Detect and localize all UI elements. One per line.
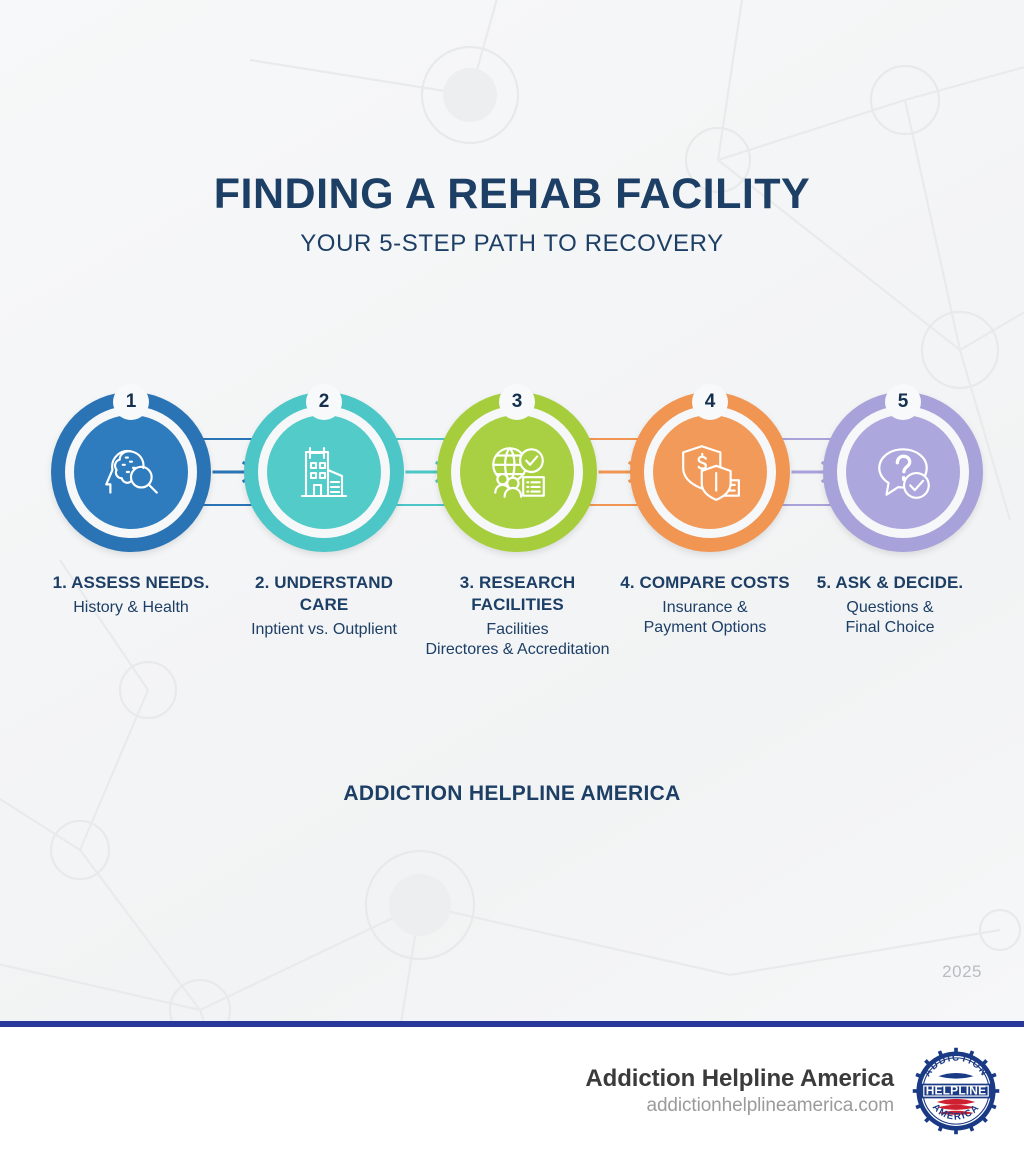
- caption-title: 5. ASK & DECIDE.: [800, 572, 980, 594]
- step-disc-4: [653, 415, 767, 529]
- step-number-badge-4: 4: [692, 384, 728, 420]
- globe-checklist-people-icon: [484, 439, 550, 505]
- step-disc-2: [267, 415, 381, 529]
- page-subtitle: YOUR 5-STEP PATH TO RECOVERY: [0, 230, 1024, 258]
- caption-sub-line2: Directores & Accreditation: [415, 640, 620, 660]
- caption-title-line1: 4. COMPARE COSTS: [615, 572, 795, 594]
- infographic-poster: FINDING A REHAB FACILITY YOUR 5-STEP PAT…: [0, 0, 1024, 1024]
- step-node-2[interactable]: 2: [244, 392, 404, 552]
- step-number-badge-3: 3: [499, 384, 535, 420]
- footer-brand-name: Addiction Helpline America: [585, 1065, 894, 1093]
- step-number-badge-5: 5: [885, 384, 921, 420]
- caption-title: 1. ASSESS NEEDS.: [36, 572, 226, 594]
- addiction-helpline-america-seal-logo[interactable]: HELPLINE ADDICTION AMERICA: [910, 1045, 1002, 1137]
- logo-banner: HELPLINE: [921, 1083, 991, 1098]
- step-caption-5: 5. ASK & DECIDE. Questions & Final Choic…: [800, 572, 980, 639]
- question-bubble-check-icon: [870, 439, 936, 505]
- caption-sub-line2: Final Choice: [800, 618, 980, 638]
- caption-title-line1: 3. RESEARCH FACILITIES: [415, 572, 620, 616]
- step-caption-2: 2. UNDERSTAND CARE Inptient vs. Outplien…: [229, 572, 419, 640]
- hospital-building-icon: [292, 440, 356, 504]
- step-node-5[interactable]: 5: [823, 392, 983, 552]
- caption-subtitle: Facilities Directores & Accreditation: [415, 620, 620, 661]
- caption-sub-line1: Inptient vs. Outplient: [229, 620, 419, 640]
- header-block: FINDING A REHAB FACILITY YOUR 5-STEP PAT…: [0, 172, 1024, 258]
- caption-subtitle: History & Health: [36, 598, 226, 618]
- caption-sub-line1: Questions &: [800, 598, 980, 618]
- step-number-badge-1: 1: [113, 384, 149, 420]
- caption-sub-line1: Facilities: [415, 620, 620, 640]
- caption-subtitle: Insurance & Payment Options: [615, 598, 795, 639]
- caption-sub-line1: Insurance &: [615, 598, 795, 618]
- captions-row: 1. ASSESS NEEDS. History & Health 2. UND…: [0, 572, 1024, 662]
- footer-bar: Addiction Helpline America addictionhelp…: [0, 1027, 1024, 1154]
- shield-dollar-payment-icon: [677, 439, 743, 505]
- step-disc-3: [460, 415, 574, 529]
- brain-head-magnifier-icon: [98, 439, 164, 505]
- year-label: 2025: [942, 962, 982, 982]
- caption-subtitle: Questions & Final Choice: [800, 598, 980, 639]
- footer-text-block: Addiction Helpline America addictionhelp…: [585, 1065, 894, 1117]
- caption-title-line1: 5. ASK & DECIDE.: [800, 572, 980, 594]
- caption-title: 4. COMPARE COSTS: [615, 572, 795, 594]
- logo-banner-text: HELPLINE: [926, 1083, 987, 1097]
- caption-sub-line1: History & Health: [36, 598, 226, 618]
- step-node-1[interactable]: 1: [51, 392, 211, 552]
- caption-title-line2: CARE: [229, 594, 419, 616]
- step-node-4[interactable]: 4: [630, 392, 790, 552]
- step-caption-4: 4. COMPARE COSTS Insurance & Payment Opt…: [615, 572, 795, 639]
- center-brand-text: ADDICTION HELPLINE AMERICA: [0, 782, 1024, 806]
- caption-sub-line2: Payment Options: [615, 618, 795, 638]
- caption-title-line1: 1. ASSESS NEEDS.: [36, 572, 226, 594]
- footer-website-url[interactable]: addictionhelplineamerica.com: [585, 1095, 894, 1117]
- step-caption-3: 3. RESEARCH FACILITIES Facilities Direct…: [415, 572, 620, 660]
- steps-row: 1 2: [0, 392, 1024, 552]
- step-caption-1: 1. ASSESS NEEDS. History & Health: [36, 572, 226, 618]
- step-node-3[interactable]: 3: [437, 392, 597, 552]
- step-number-badge-2: 2: [306, 384, 342, 420]
- step-disc-1: [74, 415, 188, 529]
- step-disc-5: [846, 415, 960, 529]
- page-title: FINDING A REHAB FACILITY: [0, 172, 1024, 217]
- caption-title: 3. RESEARCH FACILITIES: [415, 572, 620, 616]
- caption-subtitle: Inptient vs. Outplient: [229, 620, 419, 640]
- caption-title-line1: 2. UNDERSTAND: [229, 572, 419, 594]
- caption-title: 2. UNDERSTAND CARE: [229, 572, 419, 616]
